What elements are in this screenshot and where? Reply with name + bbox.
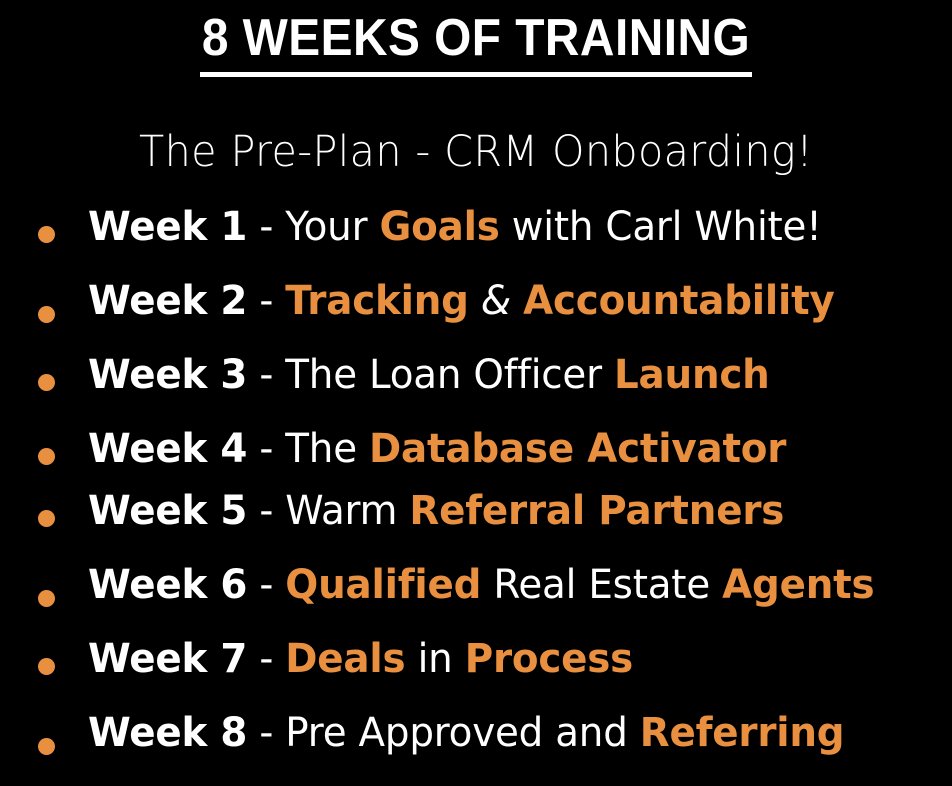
bullet-icon — [38, 448, 55, 465]
week-text: Week 2 - Tracking & Accountability — [88, 274, 926, 328]
week-segment: Your — [285, 204, 379, 250]
bullet-icon — [38, 374, 55, 391]
week-segment: Pre Approved and — [285, 710, 639, 756]
week-segment: Accountability — [523, 278, 834, 324]
week-segment: Tracking — [285, 278, 468, 324]
week-list: Week 1 - Your Goals with Carl White!Week… — [0, 200, 952, 780]
week-dash: - — [247, 426, 285, 472]
week-row: Week 5 - Warm Referral Partners — [0, 484, 952, 558]
week-label: Week 6 — [88, 562, 247, 608]
week-dash: - — [247, 278, 285, 324]
week-label: Week 4 — [88, 426, 247, 472]
week-row: Week 8 - Pre Approved and Referring — [0, 706, 952, 780]
week-segment: Warm — [285, 488, 409, 534]
bullet-icon — [38, 590, 55, 607]
week-row: Week 2 - Tracking & Accountability — [0, 274, 952, 348]
week-segment: Agents — [722, 562, 874, 608]
week-label: Week 2 — [88, 278, 247, 324]
week-row: Week 7 - Deals in Process — [0, 632, 952, 706]
subtitle-container: The Pre-Plan - CRM Onboarding! — [0, 126, 952, 178]
week-segment: Database Activator — [369, 426, 786, 472]
week-row: Week 3 - The Loan Officer Launch — [0, 348, 952, 422]
week-segment: The Loan Officer — [285, 352, 614, 398]
week-dash: - — [247, 710, 285, 756]
week-segment: Deals — [285, 636, 405, 682]
week-dash: - — [247, 636, 285, 682]
week-row: Week 6 - Qualified Real Estate Agents — [0, 558, 952, 632]
week-label: Week 5 — [88, 488, 247, 534]
week-label: Week 7 — [88, 636, 247, 682]
week-dash: - — [247, 488, 285, 534]
training-slide: 8 WEEKS OF TRAINING The Pre-Plan - CRM O… — [0, 0, 952, 786]
week-segment: Referral Partners — [409, 488, 784, 534]
week-text: Week 5 - Warm Referral Partners — [88, 484, 926, 538]
week-label: Week 1 — [88, 204, 247, 250]
week-dash: - — [247, 562, 285, 608]
bullet-icon — [38, 226, 55, 243]
week-segment: in — [405, 636, 464, 682]
week-segment: & — [469, 278, 523, 324]
week-segment: Process — [465, 636, 633, 682]
title-container: 8 WEEKS OF TRAINING — [0, 8, 952, 77]
bullet-icon — [38, 658, 55, 675]
week-text: Week 6 - Qualified Real Estate Agents — [88, 558, 926, 612]
bullet-icon — [38, 738, 55, 755]
bullet-icon — [38, 510, 55, 527]
week-segment: Real Estate — [481, 562, 722, 608]
week-segment: The — [285, 426, 369, 472]
week-dash: - — [247, 352, 285, 398]
week-segment: with Carl White! — [500, 204, 822, 250]
week-segment: Goals — [379, 204, 499, 250]
week-segment: Launch — [614, 352, 770, 398]
week-row: Week 4 - The Database Activator — [0, 422, 952, 484]
page-subtitle: The Pre-Plan - CRM Onboarding! — [139, 126, 813, 178]
page-title: 8 WEEKS OF TRAINING — [200, 8, 752, 77]
week-dash: - — [247, 204, 285, 250]
week-text: Week 8 - Pre Approved and Referring — [88, 706, 926, 760]
week-text: Week 7 - Deals in Process — [88, 632, 926, 686]
week-segment: Qualified — [285, 562, 481, 608]
week-text: Week 3 - The Loan Officer Launch — [88, 348, 926, 402]
week-text: Week 4 - The Database Activator — [88, 422, 926, 476]
week-label: Week 8 — [88, 710, 247, 756]
week-text: Week 1 - Your Goals with Carl White! — [88, 200, 926, 254]
bullet-icon — [38, 306, 55, 323]
week-label: Week 3 — [88, 352, 247, 398]
week-row: Week 1 - Your Goals with Carl White! — [0, 200, 952, 274]
week-segment: Referring — [640, 710, 845, 756]
